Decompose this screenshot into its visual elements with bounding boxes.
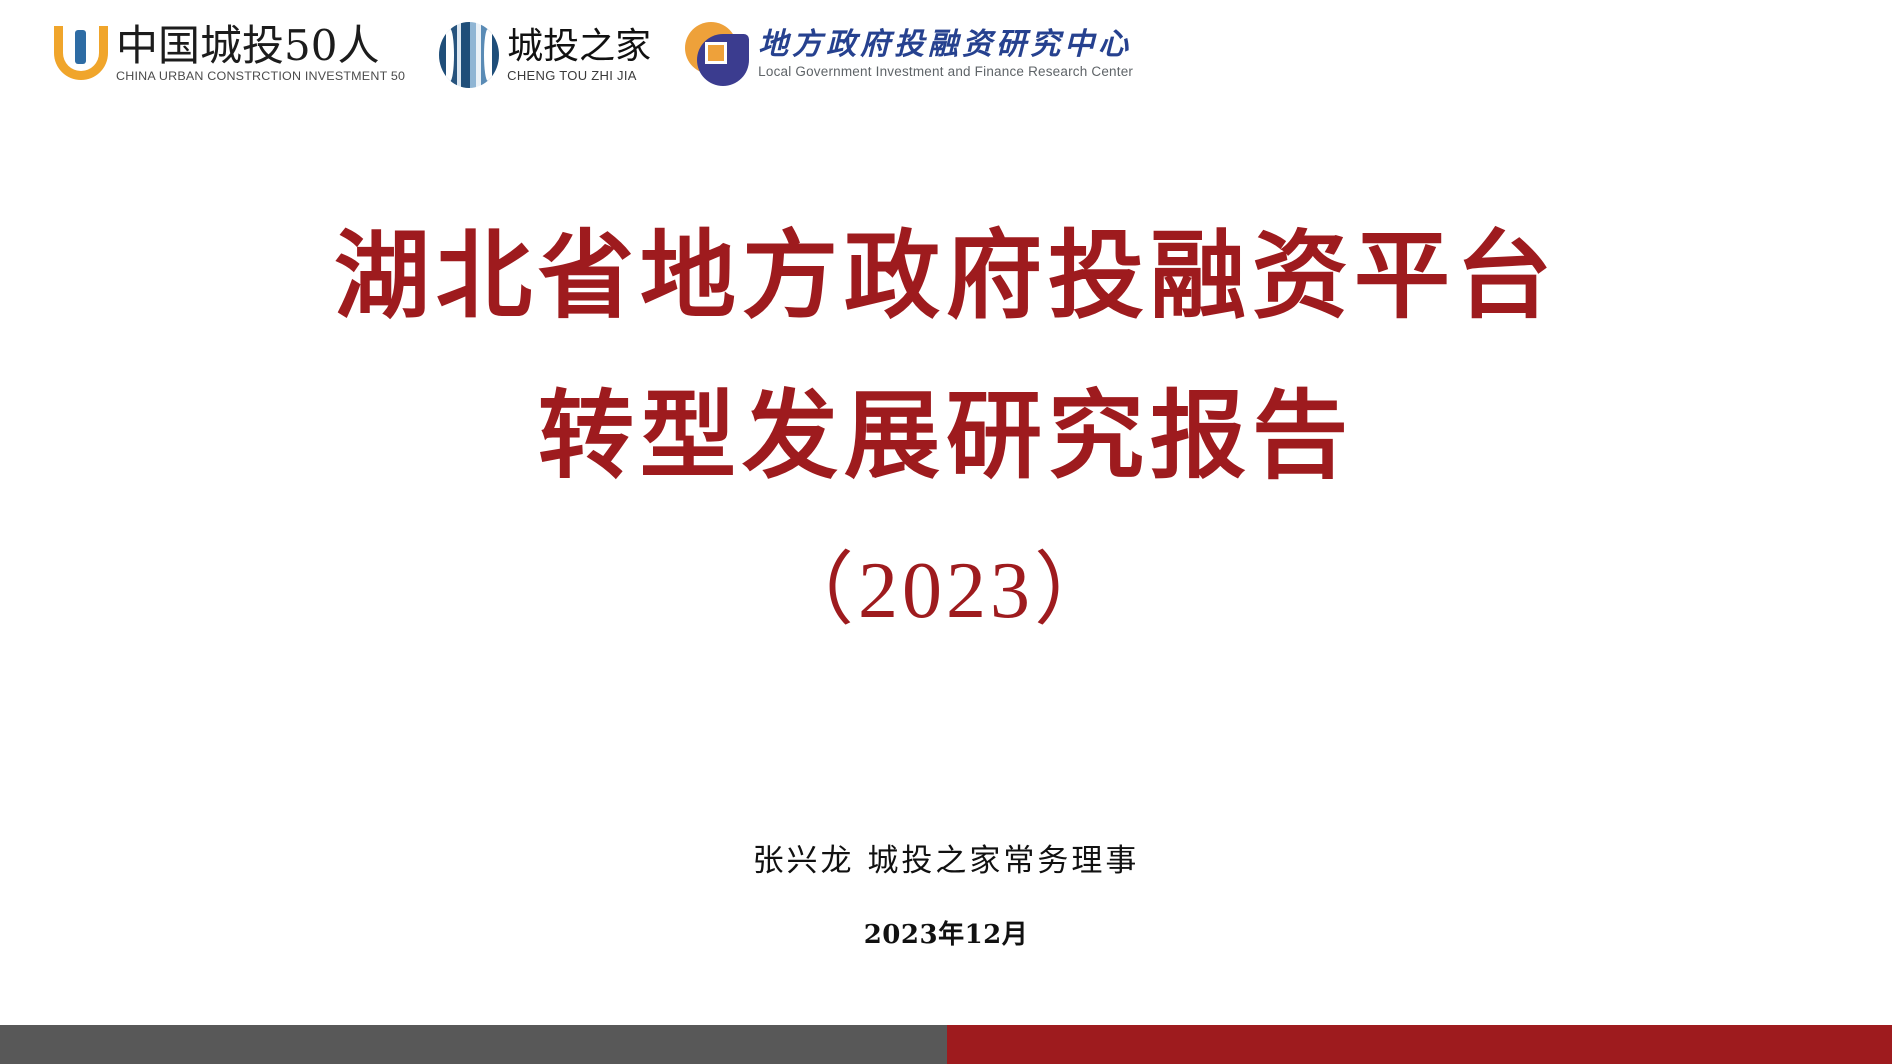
logo-cn-name: 城投之家 [507, 27, 651, 67]
logo-cn-name: 地方政府投融资研究中心 [758, 28, 1133, 62]
title-block: 湖北省地方政府投融资平台 转型发展研究报告 （2023） [0, 196, 1892, 666]
logo-en-name: Local Government Investment and Finance … [758, 64, 1133, 80]
logo-china-urban-construction-investment-50: 中国城投50人 CHINA URBAN CONSTRCTION INVESTME… [52, 22, 405, 84]
logo-en-name: CHENG TOU ZHI JIA [507, 68, 651, 83]
logo-cn-name: 中国城投50人 [116, 23, 405, 69]
logo-local-government-investment-finance-research-center: 地方政府投融资研究中心 Local Government Investment … [685, 22, 1133, 86]
page-title-year: （2023） [0, 516, 1892, 666]
logo-cheng-tou-zhi-jia: 城投之家 CHENG TOU ZHI JIA [439, 22, 651, 88]
logo-bar: 中国城投50人 CHINA URBAN CONSTRCTION INVESTME… [52, 22, 1133, 88]
title-slide: 中国城投50人 CHINA URBAN CONSTRCTION INVESTME… [0, 0, 1892, 1064]
logo-en-name: CHINA URBAN CONSTRCTION INVESTMENT 50 [116, 70, 405, 83]
page-title-line-1: 湖北省地方政府投融资平台 [0, 196, 1892, 356]
swirl-square-icon [685, 22, 749, 86]
building-circle-icon [439, 22, 499, 88]
byline-block: 张兴龙 城投之家常务理事 2023年12月 [0, 838, 1892, 954]
page-title-line-2: 转型发展研究报告 [0, 356, 1892, 516]
footer-bar-gray-segment [0, 1025, 947, 1064]
footer-bar [0, 1025, 1892, 1064]
presentation-date: 2023年12月 [0, 916, 1892, 954]
footer-bar-red-segment [947, 1025, 1892, 1064]
presenter-name-and-role: 张兴龙 城投之家常务理事 [0, 838, 1892, 884]
u-shape-icon [52, 22, 110, 84]
